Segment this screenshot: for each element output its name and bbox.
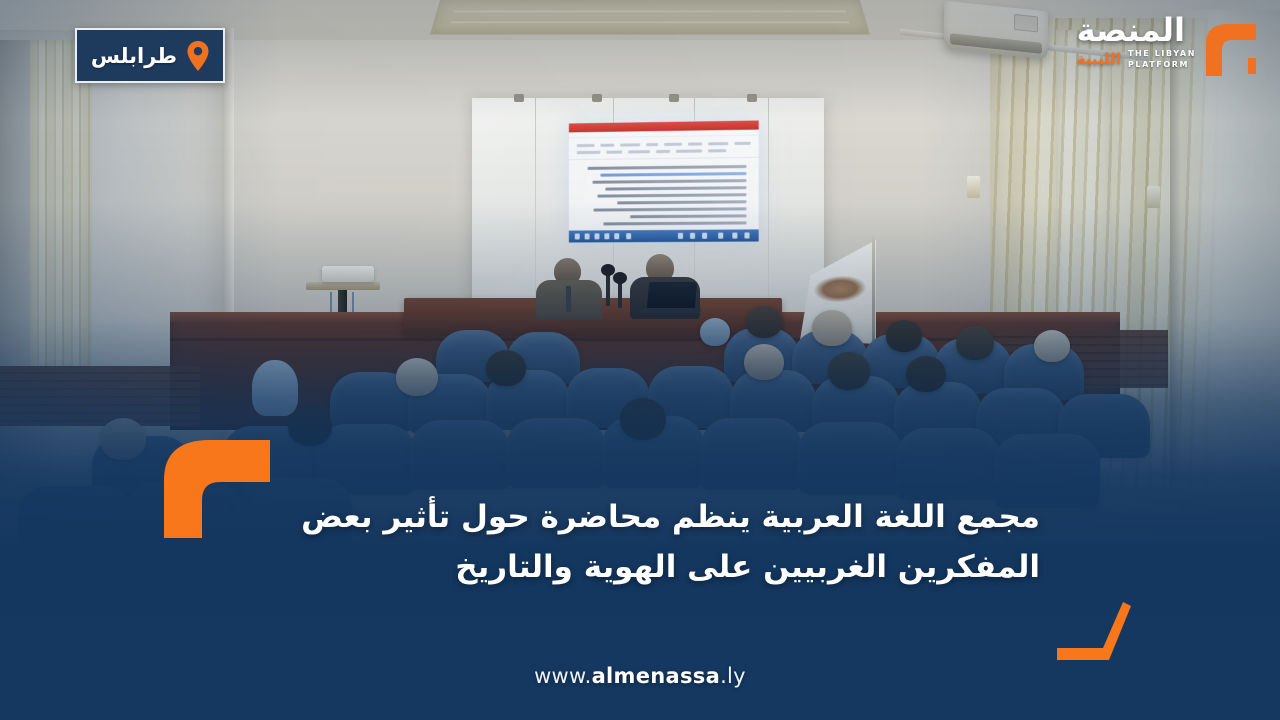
url-name: almenassa — [592, 664, 721, 688]
brand-english-line1: THE LIBYAN — [1128, 49, 1196, 58]
location-label: طرابلس — [91, 44, 177, 68]
brand-english: THE LIBYAN PLATFORM — [1128, 49, 1196, 71]
brand-hook-icon — [1202, 18, 1258, 84]
brand-arabic-primary: المنصة — [1077, 14, 1185, 46]
orange-angle-mark-icon — [1053, 598, 1131, 666]
url-tld: .ly — [720, 664, 746, 688]
page-title: مجمع اللغة العربية ينظم محاضرة حول تأثير… — [240, 492, 1040, 592]
location-badge[interactable]: طرابلس — [75, 28, 225, 83]
brand-second-row: THE LIBYAN PLATFORM الليبية — [1077, 49, 1196, 71]
map-pin-icon — [187, 41, 209, 71]
headline-line-1: مجمع اللغة العربية ينظم محاضرة حول تأثير… — [240, 492, 1040, 542]
url-prefix: www. — [534, 664, 591, 688]
website-url[interactable]: www.almenassa.ly — [0, 664, 1280, 688]
headline-line-2: المفكرين الغربيين على الهوية والتاريخ — [240, 542, 1040, 592]
brand-logo[interactable]: المنصة THE LIBYAN PLATFORM الليبية — [1077, 14, 1258, 84]
brand-english-line2: PLATFORM — [1128, 60, 1189, 69]
brand-arabic-secondary: الليبية — [1077, 52, 1121, 67]
brand-text-block: المنصة THE LIBYAN PLATFORM الليبية — [1077, 14, 1196, 71]
news-card: طرابلس المنصة THE LIBYAN PLATFORM الليبي… — [0, 0, 1280, 720]
